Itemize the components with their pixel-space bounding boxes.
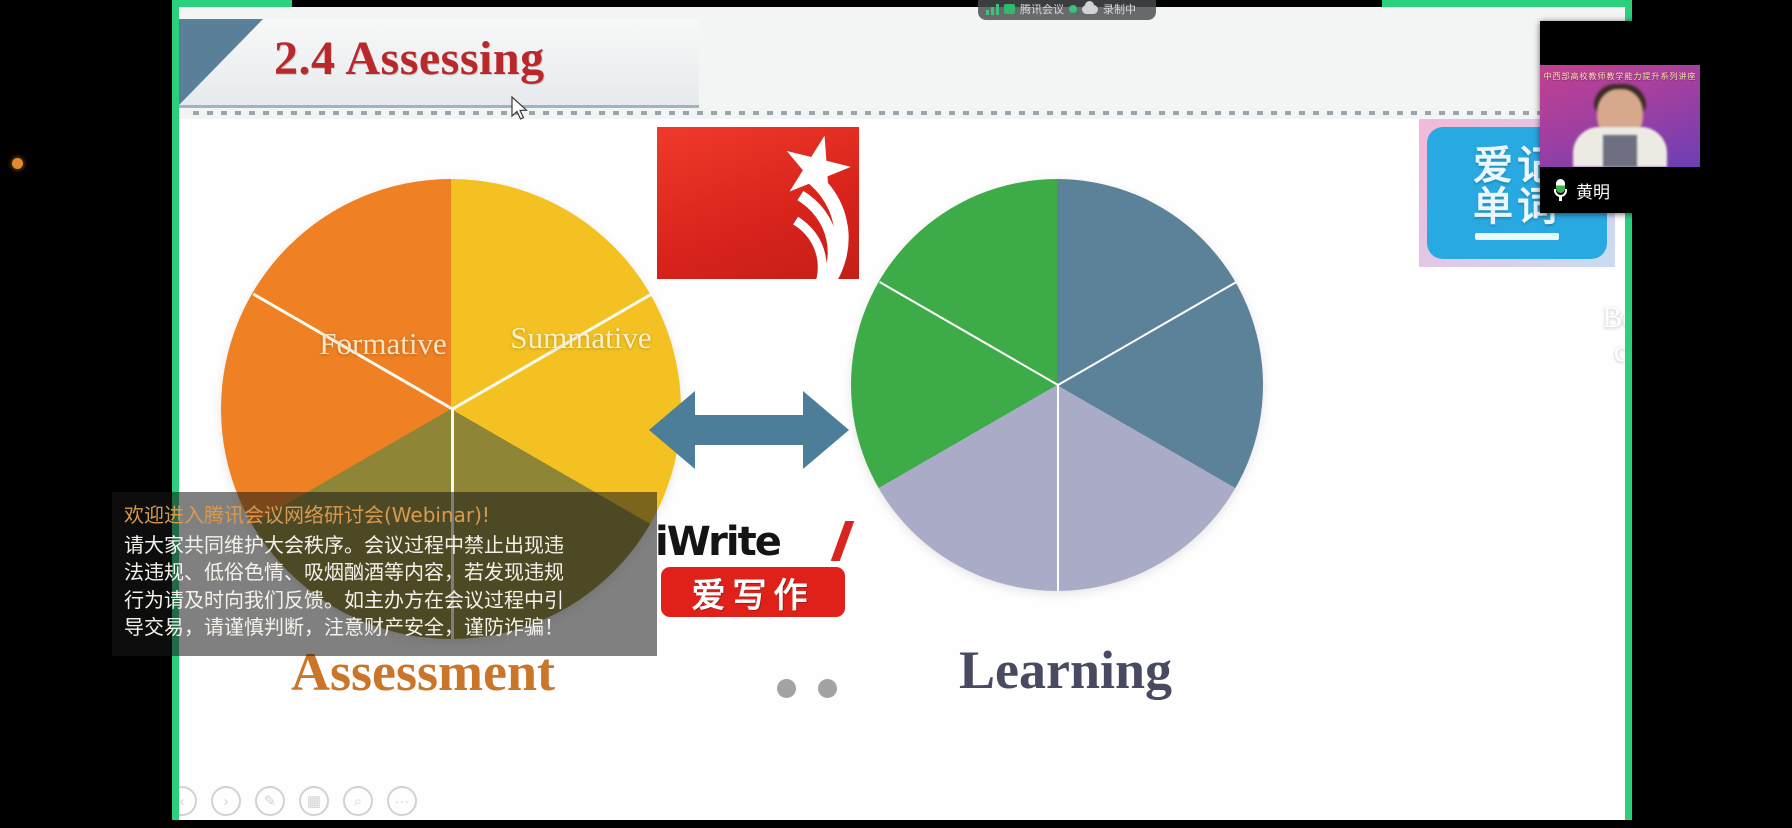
- pie-separator: [253, 293, 454, 411]
- participant-name: 黄明: [1576, 178, 1610, 203]
- share-highlight-top-left: [172, 0, 292, 7]
- slide-thumbnails-button[interactable]: ▦: [299, 786, 329, 816]
- double-arrow-icon: [649, 391, 849, 469]
- desktop-indicator-dot: [12, 158, 23, 169]
- participant-name-bar: 黄明: [1540, 167, 1700, 213]
- presentation-slide[interactable]: 2.4 Assessing Formative Summative: [179, 7, 1625, 820]
- share-highlight-top-right: [1382, 0, 1632, 7]
- screen-share-icon: [1004, 4, 1015, 14]
- arrow-head-left: [649, 391, 695, 469]
- webinar-notice-headline: 欢迎进入腾讯会议网络研讨会(Webinar)!: [124, 502, 645, 530]
- arrow-shaft: [691, 415, 807, 445]
- label-line: class: [1563, 335, 1625, 369]
- video-background-banner: 中西部高校教师教学能力提升系列讲座: [1540, 71, 1700, 82]
- aijidanci-underline: [1475, 233, 1559, 240]
- slide-dot: [777, 679, 796, 698]
- learning-pie-chart: Before class During class After class: [851, 179, 1263, 591]
- slide-body: Formative Summative Before class During …: [179, 119, 1625, 820]
- webinar-notice-line-3: 行为请及时向我们反馈。如主办方在会议过程中引: [124, 587, 645, 615]
- title-dashed-rule: [193, 111, 1615, 115]
- slide-progress-dots: [777, 679, 837, 698]
- iwrite-chinese-text: 爱写作: [692, 568, 815, 617]
- shared-screen-frame: 2.4 Assessing Formative Summative: [172, 0, 1632, 820]
- slide-title: 2.4 Assessing: [274, 31, 545, 86]
- chaoxing-logo: ★: [657, 127, 859, 279]
- powerpoint-presenter-toolbar[interactable]: ‹ › ✎ ▦ ⌕ ···: [179, 786, 417, 816]
- meeting-status-capsule[interactable]: 腾讯会议 录制中: [978, 0, 1156, 20]
- pie-separator: [1057, 385, 1059, 591]
- microphone-icon: [1554, 179, 1567, 201]
- meeting-app-name: 腾讯会议: [1020, 1, 1064, 17]
- pie-slice-label-before-class: Before class: [1563, 301, 1625, 368]
- previous-slide-button[interactable]: ‹: [179, 786, 197, 816]
- pie-separator: [879, 281, 1058, 386]
- headline-learning: Learning: [959, 639, 1172, 701]
- iwrite-wordmark: iWrite: [655, 519, 851, 565]
- zoom-in-button[interactable]: ⌕: [343, 786, 373, 816]
- iwrite-logo: iWrite 爱写作: [655, 519, 851, 619]
- pie-separator: [452, 293, 653, 411]
- pen-tool-button[interactable]: ✎: [255, 786, 285, 816]
- cloud-record-icon: [1082, 5, 1098, 14]
- label-line: Before: [1563, 301, 1625, 335]
- video-feed: 中西部高校教师教学能力提升系列讲座: [1540, 65, 1700, 167]
- status-dot-icon: [1069, 5, 1077, 13]
- iwrite-chinese-badge: 爱写作: [661, 567, 845, 617]
- title-rule: [179, 105, 699, 108]
- next-slide-button[interactable]: ›: [211, 786, 241, 816]
- pie-separator: [1058, 281, 1237, 386]
- screen-root: 2.4 Assessing Formative Summative: [0, 0, 1792, 828]
- participant-video-tile[interactable]: 中西部高校教师教学能力提升系列讲座 黄明: [1540, 21, 1700, 213]
- more-options-button[interactable]: ···: [387, 786, 417, 816]
- slide-dot: [818, 679, 837, 698]
- pie-slice-label-formative: Formative: [283, 327, 483, 362]
- star-icon: ★: [770, 127, 859, 215]
- webinar-notice-line-2: 法违规、低俗色情、吸烟酗酒等内容，若发现违规: [124, 559, 645, 587]
- recording-status-label: 录制中: [1103, 1, 1136, 17]
- pie-slice-label-summative: Summative: [481, 321, 681, 356]
- webinar-notice-overlay: 欢迎进入腾讯会议网络研讨会(Webinar)! 请大家共同维护大会秩序。会议过程…: [112, 492, 657, 656]
- signal-bars-icon: [986, 4, 999, 15]
- arrow-head-right: [803, 391, 849, 469]
- participant-shirt: [1603, 135, 1637, 167]
- webinar-notice-line-4: 导交易，请谨慎判断，注意财产安全，谨防诈骗！: [124, 614, 645, 642]
- webinar-notice-line-1: 请大家共同维护大会秩序。会议过程中禁止出现违: [124, 532, 645, 560]
